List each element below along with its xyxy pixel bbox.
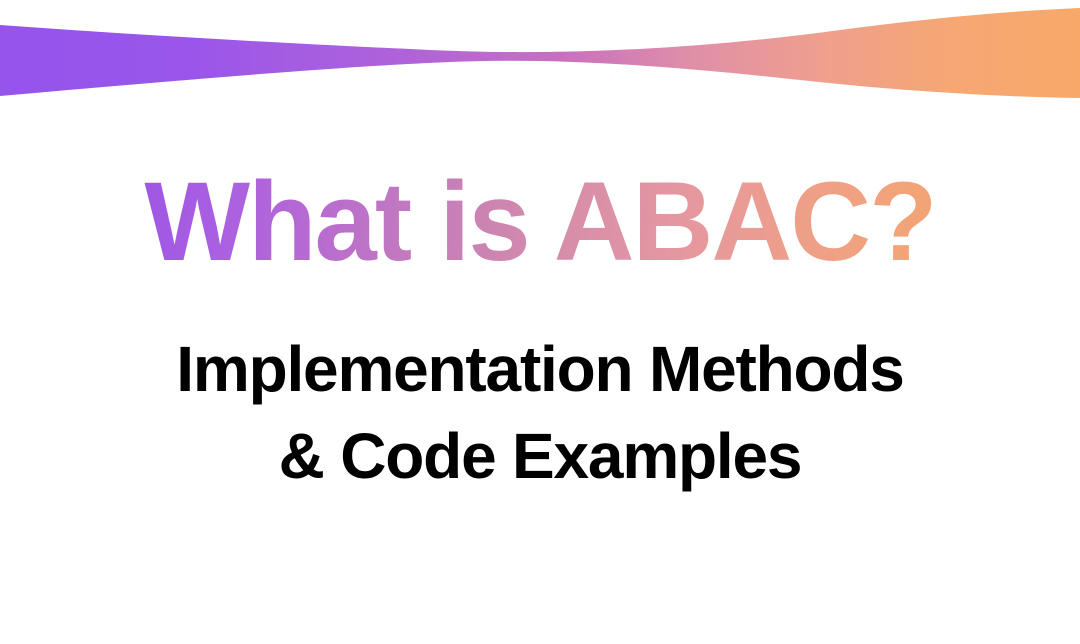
page-subtitle: Implementation Methods & Code Examples bbox=[0, 326, 1080, 500]
hero-text-block: What is ABAC? Implementation Methods & C… bbox=[0, 0, 1080, 644]
subtitle-line-2: & Code Examples bbox=[0, 413, 1080, 500]
page-title: What is ABAC? bbox=[0, 166, 1080, 278]
slide-canvas: What is ABAC? Implementation Methods & C… bbox=[0, 0, 1080, 644]
subtitle-line-1: Implementation Methods bbox=[0, 326, 1080, 413]
